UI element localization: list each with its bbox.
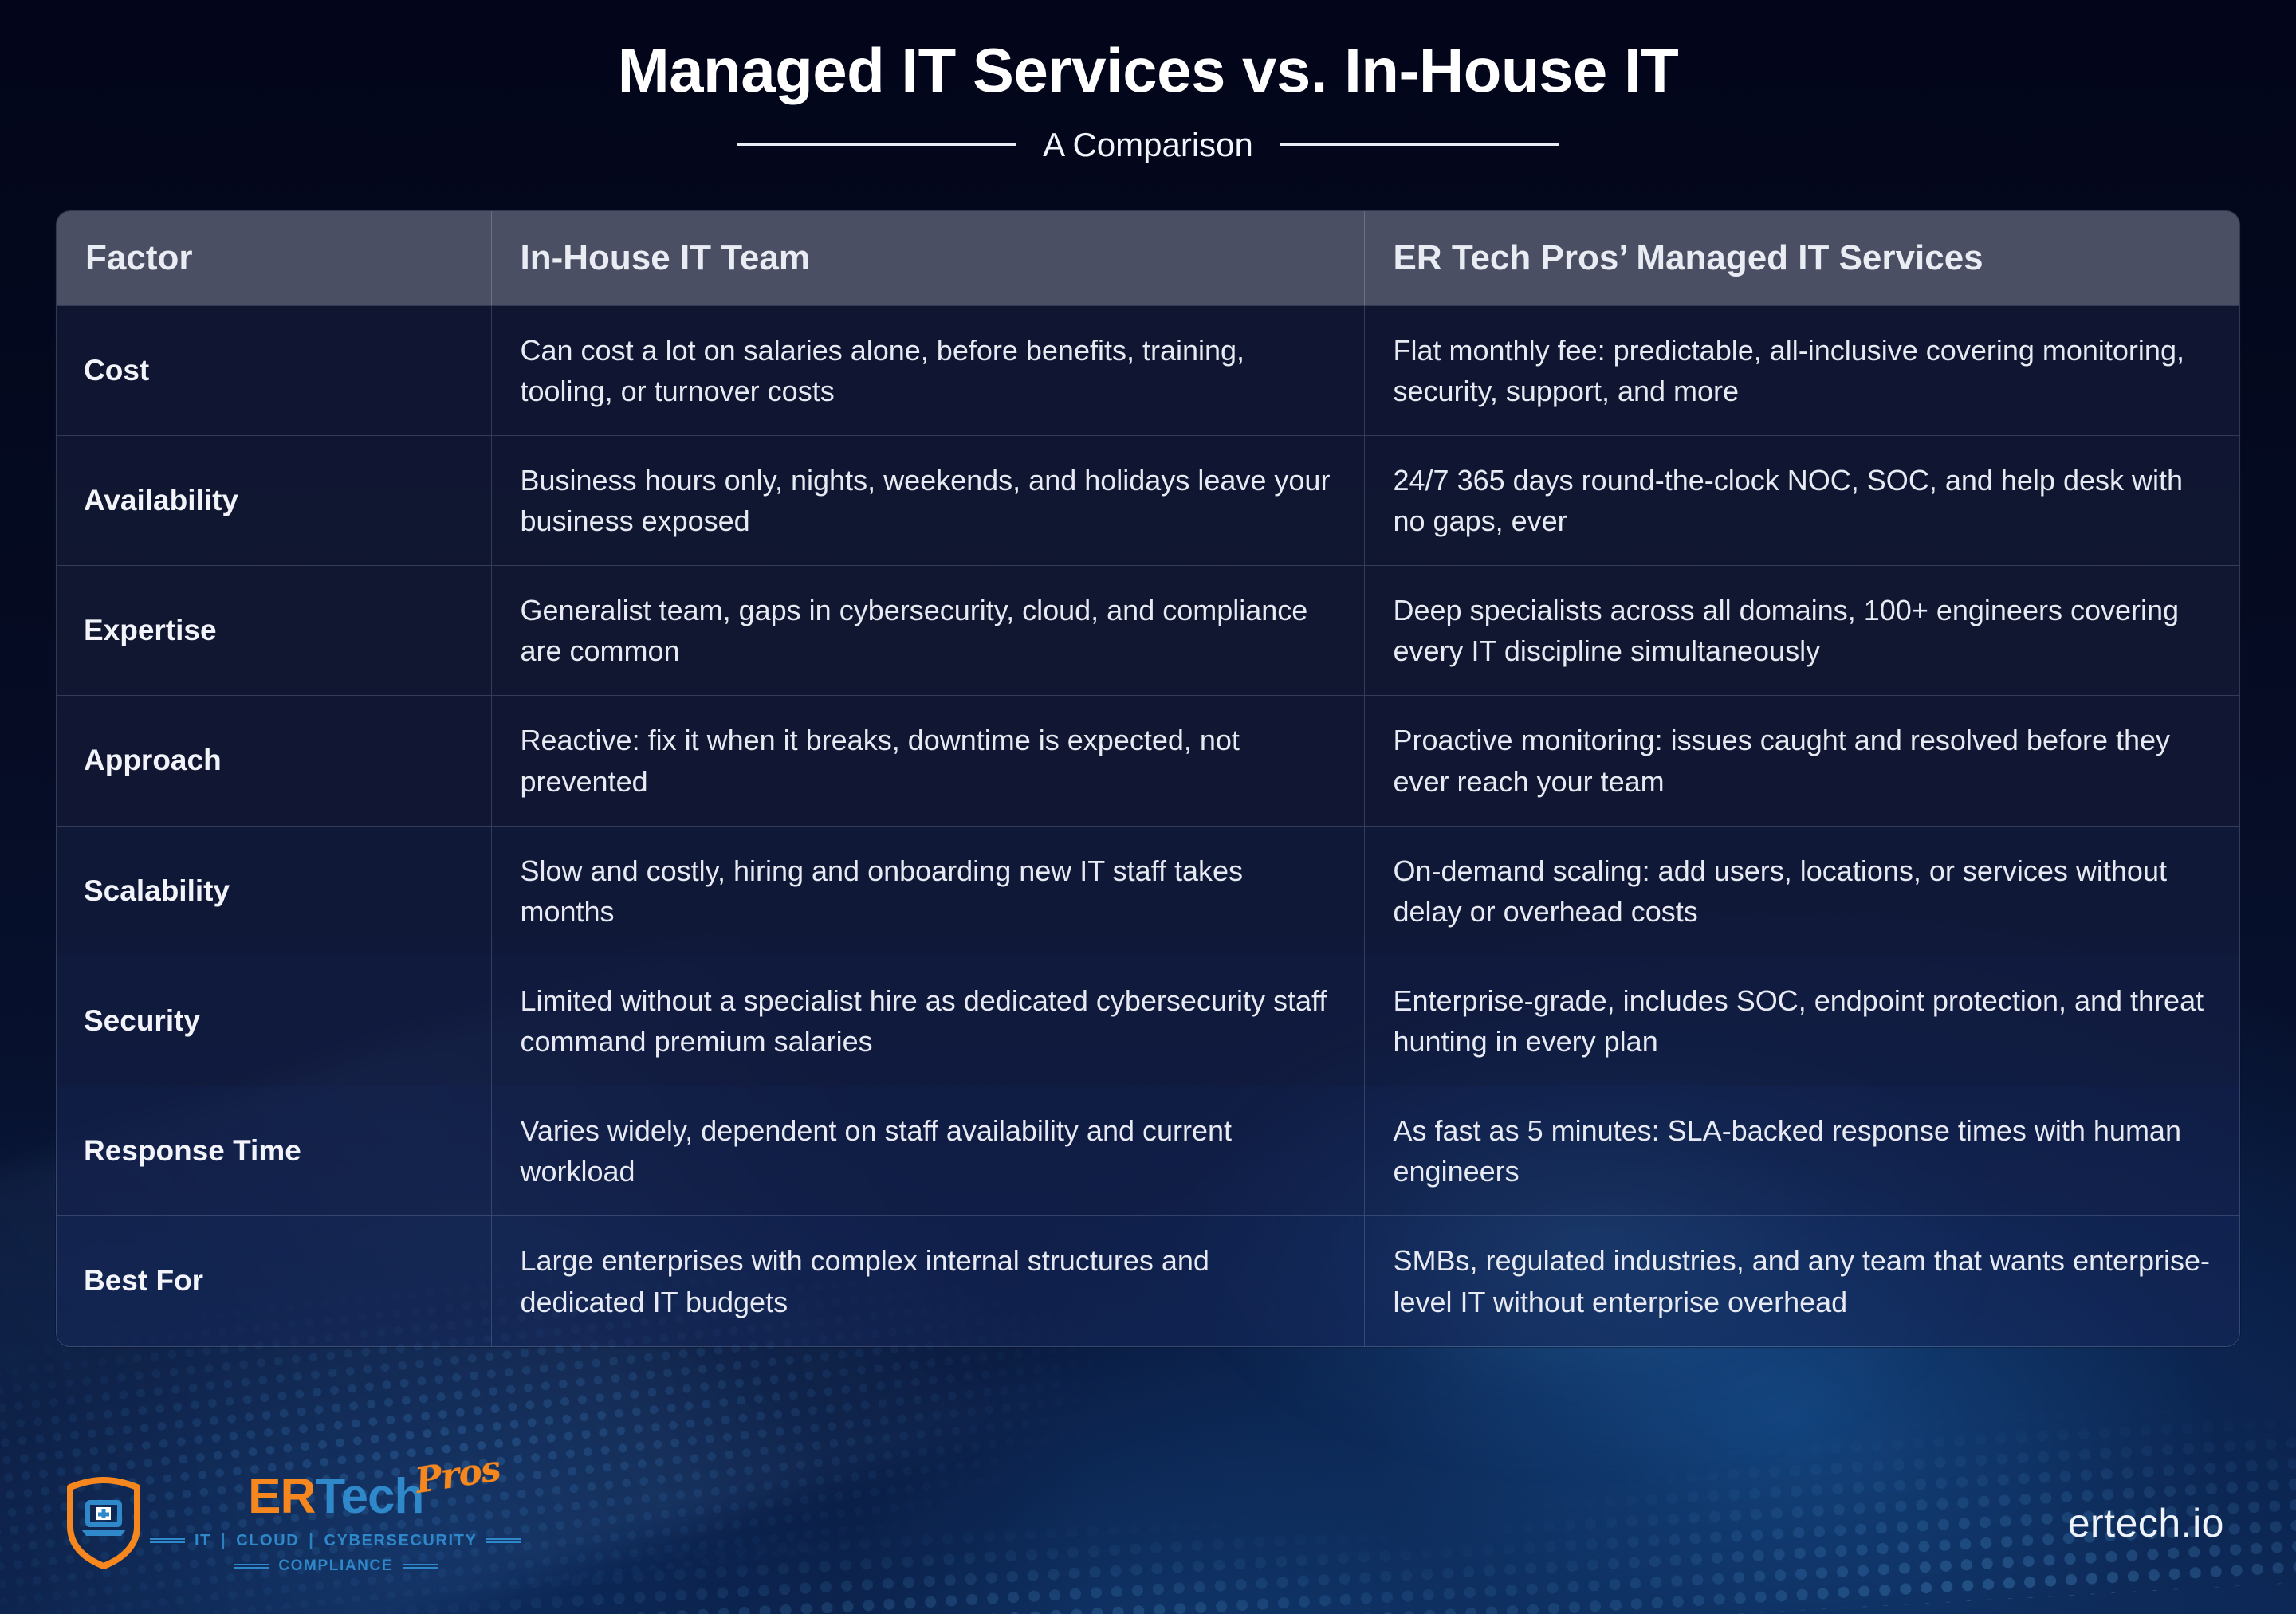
tagline-separator: | — [309, 1532, 314, 1550]
table-row: Approach Reactive: fix it when it breaks… — [57, 696, 2240, 826]
logo-text-tech: Tech — [315, 1472, 423, 1522]
table-row: Cost Can cost a lot on salaries alone, b… — [57, 305, 2240, 435]
cell-managed: Deep specialists across all domains, 100… — [1364, 566, 2240, 696]
column-header-factor: Factor — [57, 211, 491, 306]
logo-tagline-primary: IT | CLOUD | CYBERSECURITY — [150, 1532, 521, 1550]
table-row: Availability Business hours only, nights… — [57, 436, 2240, 566]
cell-factor: Security — [57, 956, 491, 1086]
logo-text-pros: Pros — [413, 1451, 502, 1498]
table-row: Best For Large enterprises with complex … — [57, 1216, 2240, 1346]
comparison-table-container: Factor In-House IT Team ER Tech Pros’ Ma… — [56, 210, 2240, 1347]
site-url[interactable]: ertech.io — [2068, 1500, 2224, 1546]
logo-text-er: ER — [248, 1472, 315, 1522]
tagline-item-it: IT — [195, 1532, 211, 1550]
page-title: Managed IT Services vs. In-House IT — [0, 37, 2296, 105]
cell-in-house: Limited without a specialist hire as ded… — [491, 956, 1364, 1086]
tagline-dash-left — [150, 1538, 185, 1543]
table-row: Expertise Generalist team, gaps in cyber… — [57, 566, 2240, 696]
tagline2-dash-right — [403, 1564, 438, 1569]
cell-in-house: Can cost a lot on salaries alone, before… — [491, 305, 1364, 435]
divider-line-left — [737, 143, 1016, 146]
table-row: Scalability Slow and costly, hiring and … — [57, 826, 2240, 956]
cell-factor: Expertise — [57, 566, 491, 696]
cell-managed: As fast as 5 minutes: SLA-backed respons… — [1364, 1086, 2240, 1216]
cell-managed: On-demand scaling: add users, locations,… — [1364, 826, 2240, 956]
table-body: Cost Can cost a lot on salaries alone, b… — [57, 305, 2240, 1346]
ertech-pros-logo[interactable]: ER Tech Pros IT | CLOUD | CYBERSECURITY … — [62, 1472, 521, 1575]
cell-managed: Flat monthly fee: predictable, all-inclu… — [1364, 305, 2240, 435]
table-row: Response Time Varies widely, dependent o… — [57, 1086, 2240, 1216]
cell-factor: Best For — [57, 1216, 491, 1346]
logo-wordmark: ER Tech Pros IT | CLOUD | CYBERSECURITY … — [150, 1472, 521, 1575]
cell-in-house: Slow and costly, hiring and onboarding n… — [491, 826, 1364, 956]
table-header-row: Factor In-House IT Team ER Tech Pros’ Ma… — [57, 211, 2240, 306]
subtitle-row: A Comparison — [0, 126, 2296, 164]
cell-in-house: Generalist team, gaps in cybersecurity, … — [491, 566, 1364, 696]
cell-factor: Scalability — [57, 826, 491, 956]
tagline-item-compliance: COMPLIANCE — [278, 1557, 393, 1575]
header: Managed IT Services vs. In-House IT A Co… — [0, 0, 2296, 164]
cell-in-house: Large enterprises with complex internal … — [491, 1216, 1364, 1346]
cell-managed: SMBs, regulated industries, and any team… — [1364, 1216, 2240, 1346]
cell-in-house: Business hours only, nights, weekends, a… — [491, 436, 1364, 566]
column-header-in-house: In-House IT Team — [491, 211, 1364, 306]
comparison-table: Factor In-House IT Team ER Tech Pros’ Ma… — [57, 211, 2240, 1346]
cell-factor: Approach — [57, 696, 491, 826]
cell-managed: 24/7 365 days round-the-clock NOC, SOC, … — [1364, 436, 2240, 566]
logo-tagline-secondary: COMPLIANCE — [234, 1557, 438, 1575]
cell-managed: Enterprise-grade, includes SOC, endpoint… — [1364, 956, 2240, 1086]
cell-factor: Cost — [57, 305, 491, 435]
page-subtitle: A Comparison — [1043, 126, 1253, 164]
table-row: Security Limited without a specialist hi… — [57, 956, 2240, 1086]
footer: ER Tech Pros IT | CLOUD | CYBERSECURITY … — [0, 1455, 2296, 1614]
tagline-separator: | — [221, 1532, 226, 1550]
cell-factor: Availability — [57, 436, 491, 566]
column-header-managed: ER Tech Pros’ Managed IT Services — [1364, 211, 2240, 306]
tagline-item-cloud: CLOUD — [236, 1532, 299, 1550]
cell-in-house: Varies widely, dependent on staff availa… — [491, 1086, 1364, 1216]
tagline2-dash-left — [234, 1564, 269, 1569]
cell-managed: Proactive monitoring: issues caught and … — [1364, 696, 2240, 826]
tagline-item-cybersecurity: CYBERSECURITY — [324, 1532, 478, 1550]
table-header: Factor In-House IT Team ER Tech Pros’ Ma… — [57, 211, 2240, 306]
divider-line-right — [1280, 143, 1559, 146]
logo-word-row: ER Tech Pros — [248, 1472, 423, 1522]
shield-laptop-icon — [62, 1477, 145, 1569]
cell-in-house: Reactive: fix it when it breaks, downtim… — [491, 696, 1364, 826]
cell-factor: Response Time — [57, 1086, 491, 1216]
tagline-dash-right — [486, 1538, 521, 1543]
